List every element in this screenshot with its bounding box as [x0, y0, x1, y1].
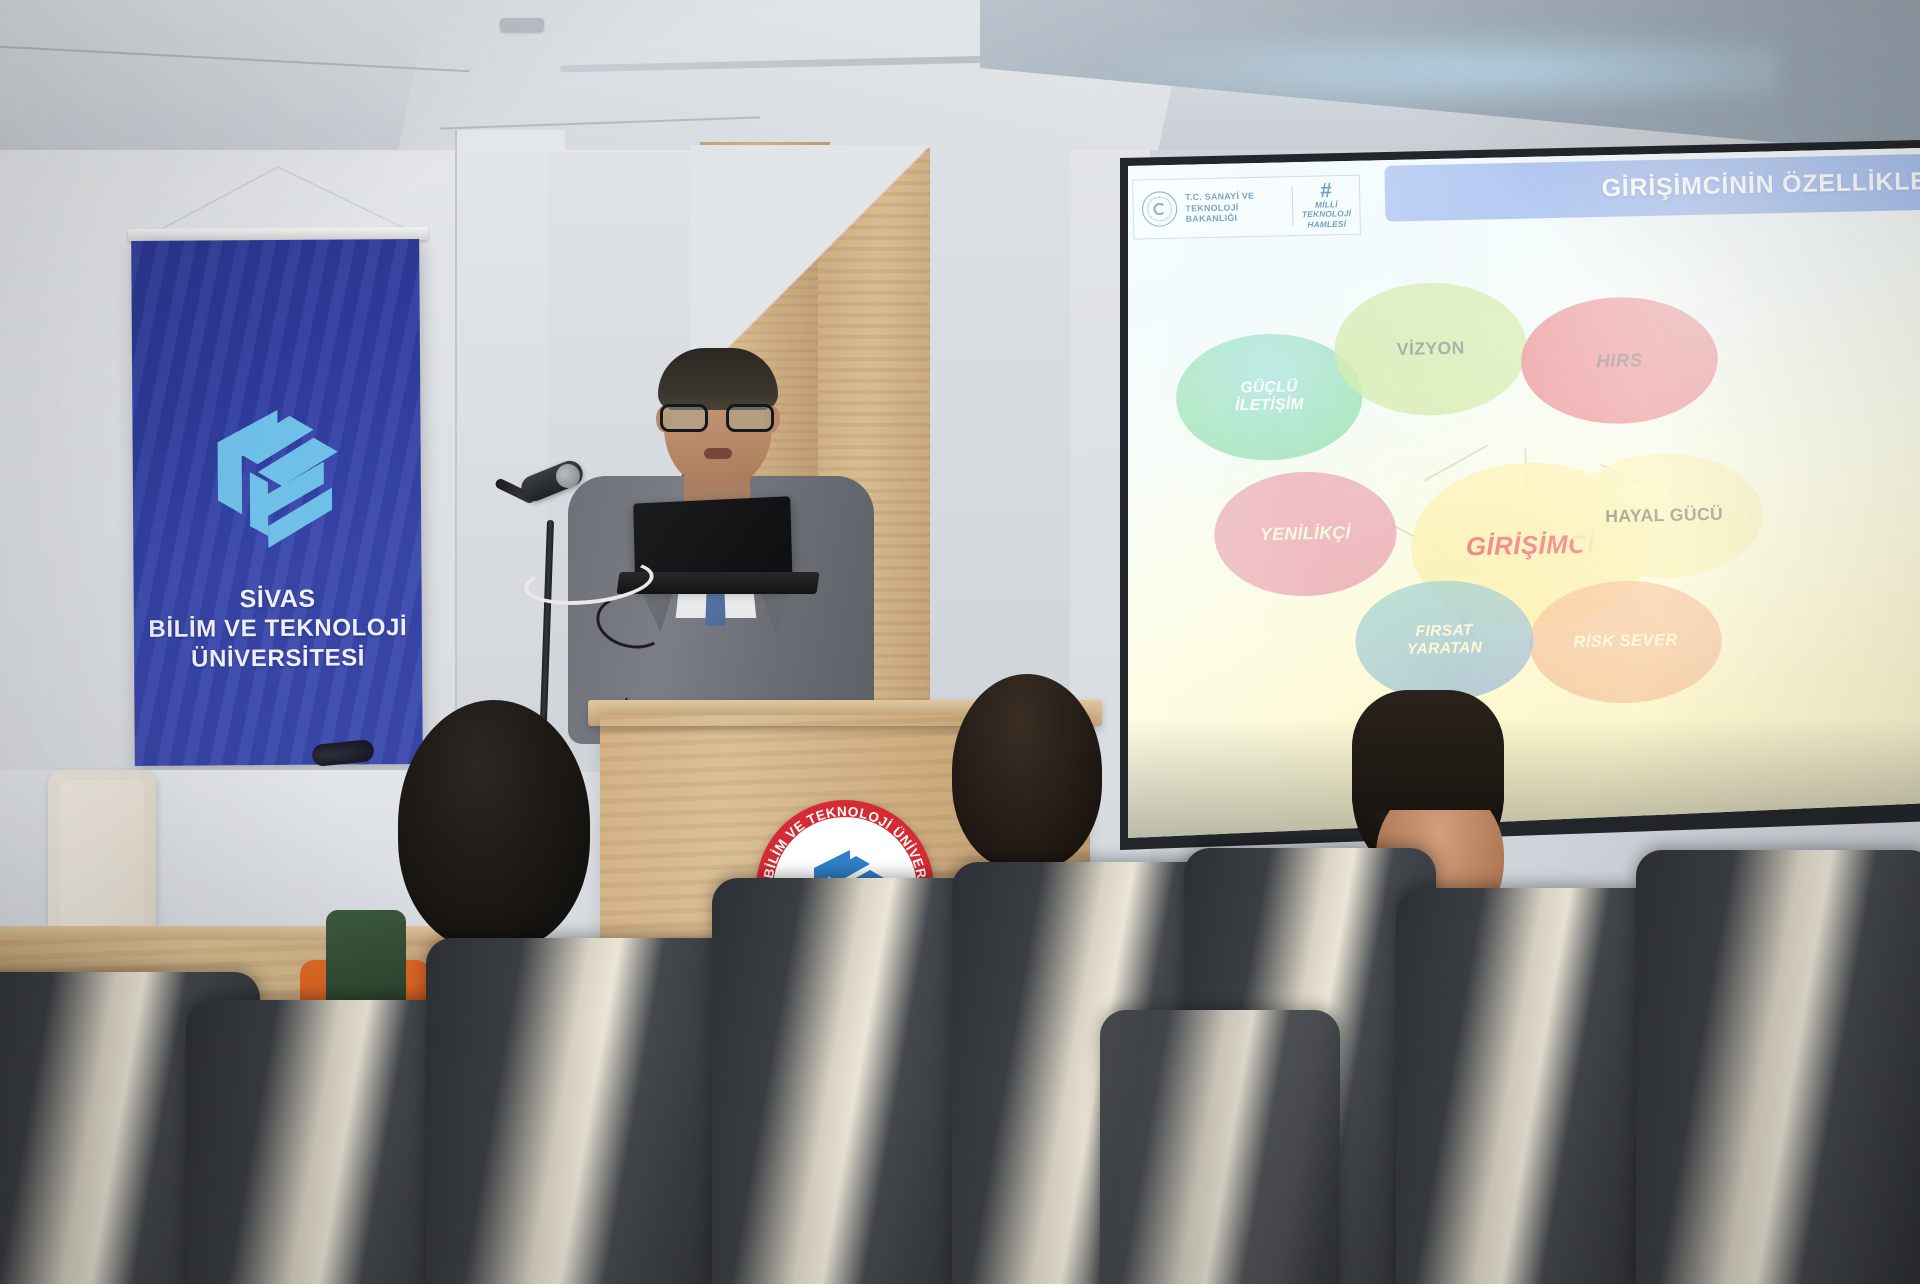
- presentation-slide: T.C. SANAYİ VE TEKNOLOJİ BAKANLIĞI # MİL…: [1128, 148, 1920, 838]
- slide-title: GİRİŞİMCİNİN ÖZELLİKLERİ: [1601, 167, 1920, 204]
- ministry-line-2: TEKNOLOJİ BAKANLIĞI: [1185, 201, 1284, 225]
- ceiling-light-glow: [1080, 24, 1780, 114]
- audience-head: [398, 700, 590, 950]
- projector-screen: T.C. SANAYİ VE TEKNOLOJİ BAKANLIĞI # MİL…: [1128, 148, 1920, 838]
- wall-banner: SİVAS BİLİM VE TEKNOLOJİ ÜNİVERSİTESİ: [131, 239, 423, 766]
- node-label: HAYAL GÜCÜ: [1605, 505, 1723, 527]
- auditorium-seat: [1396, 888, 1662, 1284]
- stage-chair: [48, 770, 156, 950]
- banner-line-2: BİLİM VE TEKNOLOJİ: [148, 614, 407, 645]
- auditorium-seat: [426, 938, 738, 1284]
- node-hayal-gucu: HAYAL GÜCÜ: [1565, 452, 1764, 580]
- auditorium-seat: [1100, 1010, 1340, 1284]
- auditorium-seat: [712, 878, 988, 1284]
- banner-text: SİVAS BİLİM VE TEKNOLOJİ ÜNİVERSİTESİ: [148, 583, 407, 674]
- slide-title-bar: GİRİŞİMCİNİN ÖZELLİKLERİ: [1384, 153, 1920, 222]
- conference-hall-photo: T.C. SANAYİ VE TEKNOLOJİ BAKANLIĞI # MİL…: [0, 0, 1920, 1284]
- divider: [1292, 186, 1294, 225]
- node-label: RİSK SEVER: [1573, 632, 1678, 653]
- ceiling-vent-icon: [500, 18, 544, 32]
- campaign-line-3: HAMLESİ: [1307, 219, 1346, 229]
- node-label: YENİLİKÇİ: [1260, 523, 1351, 545]
- auditorium-seat: [1636, 850, 1920, 1284]
- node-label: HIRS: [1596, 350, 1643, 372]
- audience-hair: [1352, 690, 1504, 810]
- glasses-lens-right: [726, 404, 774, 432]
- speaker-hair: [658, 348, 778, 410]
- node-label: GÜÇLÜ İLETİŞİM: [1234, 379, 1304, 415]
- node-label: FIRSAT YARATAN: [1406, 623, 1482, 659]
- university-logo-icon: [171, 375, 382, 566]
- node-firsat-yaratan: FIRSAT YARATAN: [1354, 579, 1535, 703]
- audience-head: [952, 674, 1102, 870]
- ministry-logo-bar: T.C. SANAYİ VE TEKNOLOJİ BAKANLIĞI # MİL…: [1132, 175, 1361, 240]
- hash-icon: #: [1301, 181, 1351, 201]
- banner-line-3: ÜNİVERSİTESİ: [149, 643, 408, 674]
- node-hirs: HIRS: [1520, 295, 1719, 426]
- node-vizyon: VİZYON: [1333, 281, 1528, 418]
- node-yenilikci: YENİLİKÇİ: [1213, 470, 1398, 598]
- speaker-glasses-icon: [660, 404, 778, 432]
- milli-teknoloji-hamlesi-logo: # MİLLİ TEKNOLOJİ HAMLESİ: [1301, 181, 1351, 229]
- node-label: VİZYON: [1397, 338, 1465, 359]
- speaker-mouth: [704, 448, 732, 459]
- banner-line-1: SİVAS: [148, 583, 407, 615]
- glasses-lens-left: [660, 404, 708, 432]
- ministry-seal-icon: [1142, 191, 1178, 227]
- ministry-name: T.C. SANAYİ VE TEKNOLOJİ BAKANLIĞI: [1185, 190, 1285, 225]
- campaign-line-1: MİLLİ: [1315, 200, 1338, 210]
- banner-suspension-strings: [150, 165, 410, 235]
